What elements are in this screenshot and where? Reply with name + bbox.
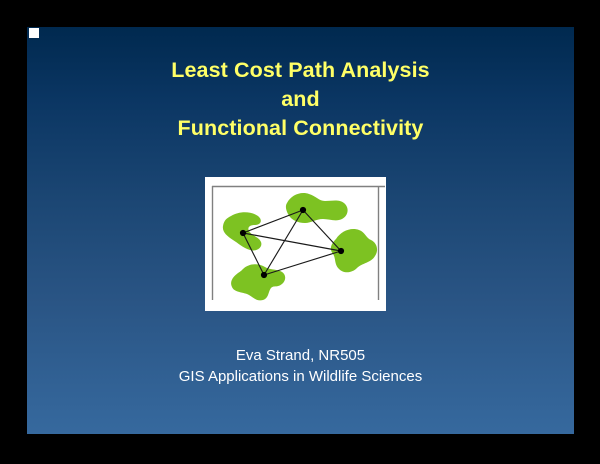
patch-node-C [338, 248, 344, 254]
habitat-network-figure [205, 177, 386, 311]
patch-node-B [300, 207, 306, 213]
course-line: GIS Applications in Wildlife Sciences [27, 366, 574, 387]
corner-marker-square [29, 28, 39, 38]
habitat-network-svg [205, 177, 386, 311]
screenshot-canvas: Least Cost Path Analysis and Functional … [0, 0, 600, 464]
presentation-slide: Least Cost Path Analysis and Functional … [27, 27, 574, 434]
page-title: Least Cost Path Analysis and Functional … [27, 56, 574, 143]
title-line-2: and [27, 85, 574, 114]
author-credit: Eva Strand, NR505 GIS Applications in Wi… [27, 345, 574, 387]
author-line: Eva Strand, NR505 [27, 345, 574, 366]
patch-node-D [261, 272, 267, 278]
title-line-1: Least Cost Path Analysis [27, 56, 574, 85]
title-line-3: Functional Connectivity [27, 114, 574, 143]
patch-node-A [240, 230, 246, 236]
figure-canvas [205, 177, 386, 311]
